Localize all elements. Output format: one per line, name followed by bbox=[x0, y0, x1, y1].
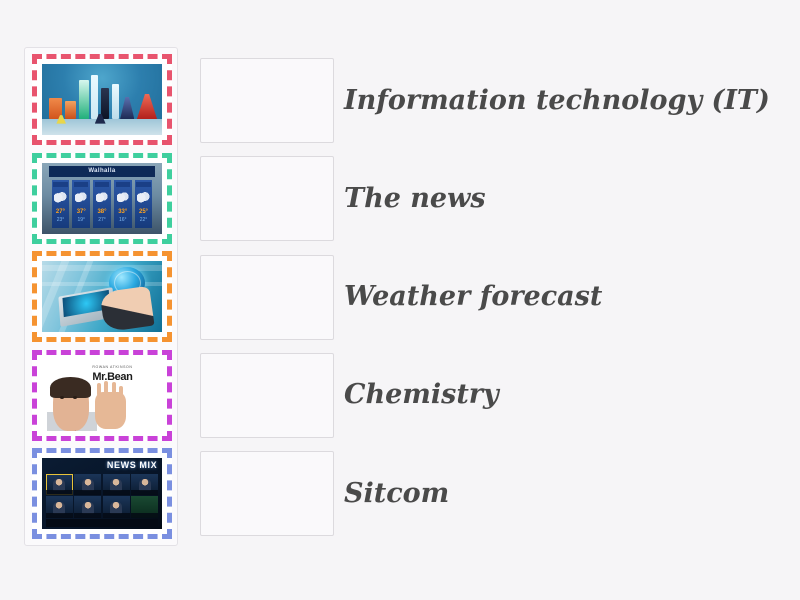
sitcom-kicker: ROWAN ATKINSON bbox=[92, 365, 132, 369]
weather-day-list: 27° 23° 37° 19° 38° 27° bbox=[52, 180, 153, 228]
weather-image: Walhalla 27° 23° 37° 19° 38° bbox=[42, 163, 162, 234]
dropzone-1[interactable] bbox=[200, 58, 334, 143]
weather-high: 38° bbox=[97, 209, 106, 215]
dropzone-2[interactable] bbox=[200, 156, 334, 241]
weather-low: 19° bbox=[77, 217, 85, 223]
image-card-chemistry[interactable] bbox=[32, 54, 172, 145]
dropzone-5[interactable] bbox=[200, 451, 334, 536]
image-card-list: Walhalla 27° 23° 37° 19° 38° bbox=[24, 47, 178, 546]
weather-low: 22° bbox=[140, 217, 148, 223]
weather-low: 27° bbox=[98, 217, 106, 223]
news-cell bbox=[103, 474, 130, 495]
dropzone-list bbox=[200, 58, 334, 536]
image-card-technology[interactable] bbox=[32, 251, 172, 342]
chemistry-image bbox=[42, 64, 162, 135]
news-cell bbox=[131, 496, 158, 517]
weather-high: 27° bbox=[56, 209, 65, 215]
news-cell bbox=[74, 496, 101, 517]
answer-label-sitcom: Sitcom bbox=[344, 479, 449, 509]
image-card-sitcom[interactable]: ROWAN ATKINSON Mr.Bean bbox=[32, 350, 172, 441]
answer-label-it: Information technology (IT) bbox=[344, 86, 770, 116]
image-card-weather[interactable]: Walhalla 27° 23° 37° 19° 38° bbox=[32, 153, 172, 244]
label-row: Sitcom bbox=[344, 451, 784, 536]
weather-day: 37° 19° bbox=[72, 180, 90, 228]
news-cell bbox=[46, 496, 73, 517]
dropzone-4[interactable] bbox=[200, 353, 334, 438]
label-row: Chemistry bbox=[344, 353, 784, 438]
news-cell bbox=[46, 474, 73, 495]
sitcom-image: ROWAN ATKINSON Mr.Bean bbox=[42, 360, 162, 431]
answer-label-chemistry: Chemistry bbox=[344, 380, 499, 410]
news-mix-title: NEWS MIX bbox=[107, 460, 157, 470]
answer-label-weather: Weather forecast bbox=[344, 282, 602, 312]
weather-day: 25° 22° bbox=[135, 180, 153, 228]
label-row: The news bbox=[344, 156, 784, 241]
weather-city-title: Walhalla bbox=[49, 166, 155, 177]
label-list: Information technology (IT) The news Wea… bbox=[344, 58, 784, 536]
weather-low: 16° bbox=[119, 217, 127, 223]
weather-high: 37° bbox=[77, 209, 86, 215]
sitcom-title: Mr.Bean bbox=[92, 371, 132, 383]
weather-high: 25° bbox=[139, 209, 148, 215]
dropzone-3[interactable] bbox=[200, 255, 334, 340]
image-card-news[interactable]: NEWS MIX bbox=[32, 448, 172, 539]
answer-label-news: The news bbox=[344, 184, 486, 214]
news-cell bbox=[74, 474, 101, 495]
news-cell bbox=[131, 474, 158, 495]
technology-image bbox=[42, 261, 162, 332]
news-image: NEWS MIX bbox=[42, 458, 162, 529]
label-row: Information technology (IT) bbox=[344, 58, 784, 143]
weather-day: 27° 23° bbox=[52, 180, 70, 228]
label-row: Weather forecast bbox=[344, 255, 784, 340]
news-cell bbox=[103, 496, 130, 517]
news-panel-grid bbox=[46, 474, 159, 518]
weather-high: 33° bbox=[118, 209, 127, 215]
weather-day: 33° 16° bbox=[114, 180, 132, 228]
weather-low: 23° bbox=[57, 217, 65, 223]
weather-day: 38° 27° bbox=[93, 180, 111, 228]
